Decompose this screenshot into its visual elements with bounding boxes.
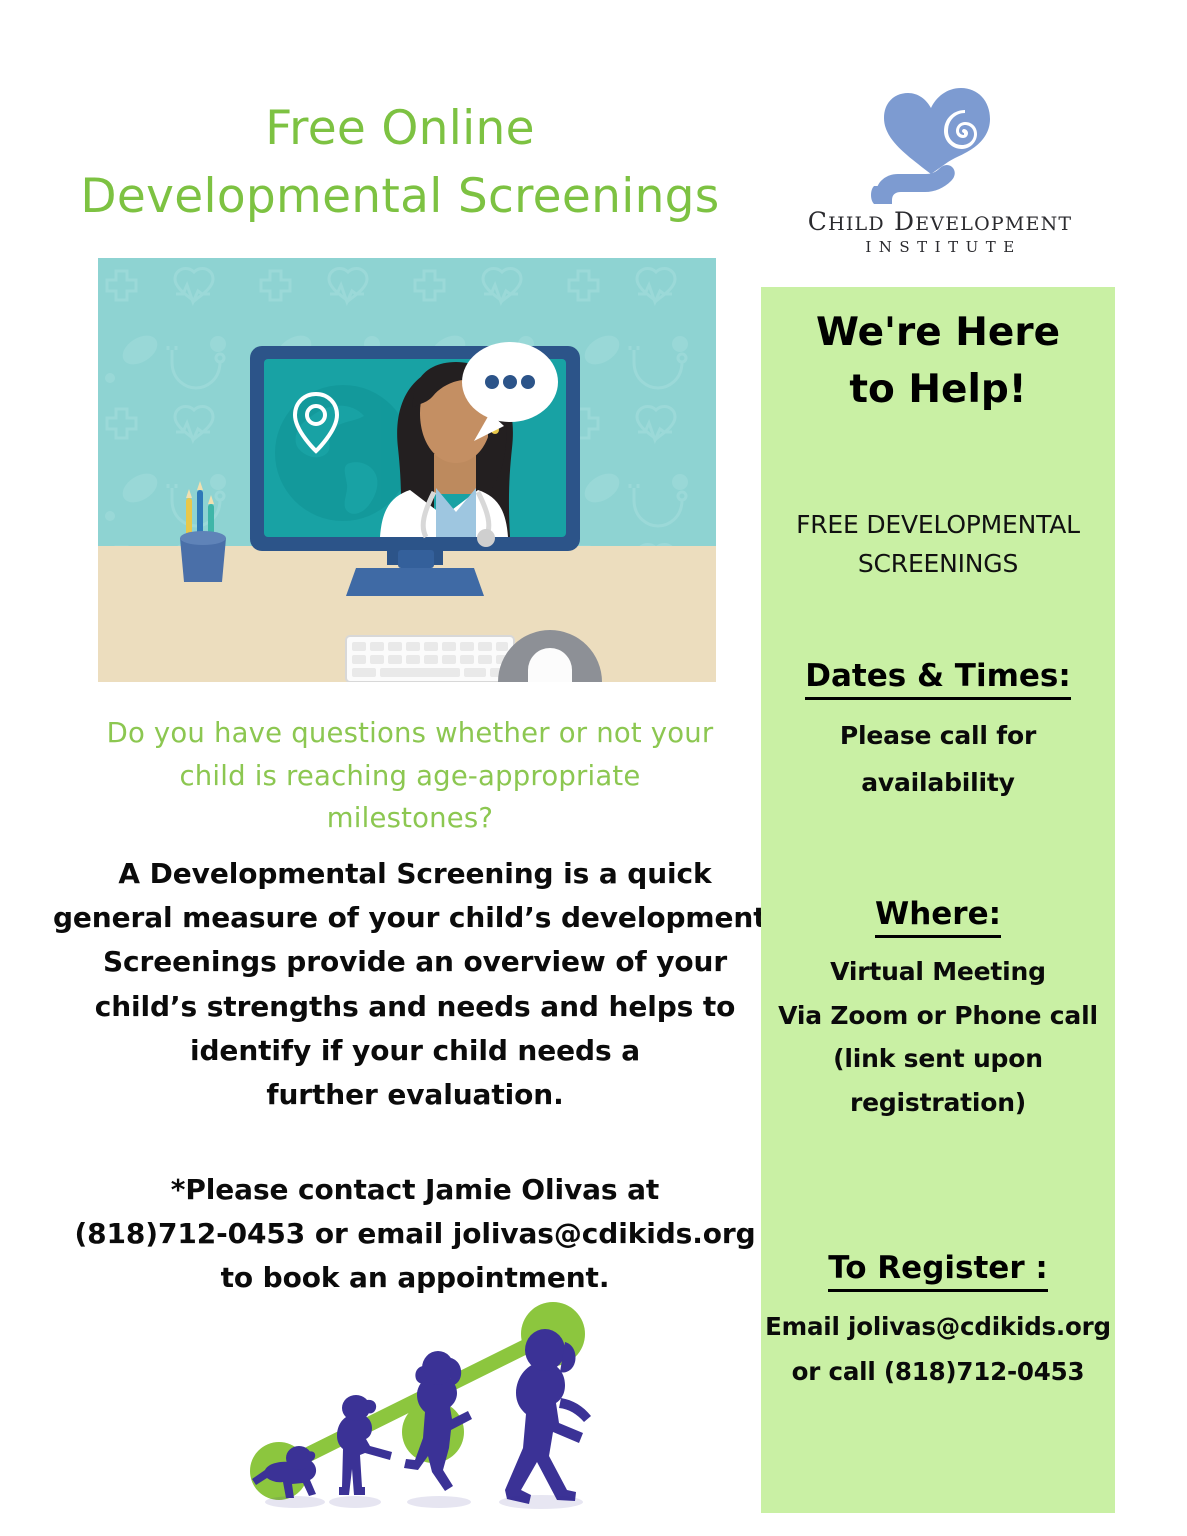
section-to-register-line-1: Email jolivas@cdikids.org bbox=[761, 1304, 1115, 1349]
sidebar-headline: We're Here to Help! bbox=[761, 305, 1115, 418]
contact-line-1: *Please contact Jamie Olivas at bbox=[45, 1168, 785, 1212]
section-to-register-heading-wrap: To Register : bbox=[761, 1249, 1115, 1292]
question-text: Do you have questions whether or not you… bbox=[60, 712, 760, 840]
section-to-register-line-2: or call (818)712-0453 bbox=[761, 1349, 1115, 1394]
section-where: Where: Virtual Meeting Via Zoom or Phone… bbox=[761, 895, 1115, 1125]
section-to-register-body: Email jolivas@cdikids.org or call (818)7… bbox=[761, 1304, 1115, 1395]
page-title-line-1: Free Online bbox=[40, 95, 760, 163]
telehealth-illustration bbox=[98, 258, 716, 682]
sidebar-subheadline-line-1: FREE DEVELOPMENTAL bbox=[769, 506, 1107, 545]
page-title: Free Online Developmental Screenings bbox=[40, 95, 760, 230]
contact-text: *Please contact Jamie Olivas at (818)712… bbox=[45, 1168, 785, 1301]
section-where-line-3: (link sent upon bbox=[761, 1037, 1115, 1081]
description-line-2: general measure of your child’s developm… bbox=[45, 896, 785, 940]
section-dates-times-line-2: availability bbox=[761, 759, 1115, 807]
organization-logo: CHILD DEVELOPMENT INSTITUTE bbox=[760, 82, 1120, 277]
section-where-heading: Where: bbox=[875, 895, 1001, 938]
logo-name-c: C bbox=[808, 207, 828, 236]
sidebar-subheadline: FREE DEVELOPMENTAL SCREENINGS bbox=[769, 506, 1107, 584]
description-line-4: child’s strengths and needs and helps to bbox=[45, 985, 785, 1029]
section-where-line-2: Via Zoom or Phone call bbox=[761, 994, 1115, 1038]
question-line-1: Do you have questions whether or not you… bbox=[60, 712, 760, 755]
question-line-3: milestones? bbox=[60, 797, 760, 840]
sidebar-subheadline-line-2: SCREENINGS bbox=[769, 545, 1107, 584]
logo-name-evelopment: EVELOPMENT bbox=[915, 213, 1072, 235]
section-dates-times-body: Please call for availability bbox=[761, 712, 1115, 807]
sidebar-headline-line-1: We're Here bbox=[761, 305, 1115, 362]
section-to-register-heading: To Register : bbox=[828, 1249, 1048, 1292]
logo-wordmark: CHILD DEVELOPMENT INSTITUTE bbox=[760, 208, 1120, 256]
contact-line-3: to book an appointment. bbox=[45, 1256, 785, 1300]
child-growth-progression-graphic bbox=[243, 1302, 641, 1536]
section-dates-times-heading: Dates & Times: bbox=[805, 657, 1071, 700]
flyer-page: Free Online Developmental Screenings bbox=[0, 0, 1187, 1536]
logo-name-d: D bbox=[894, 207, 915, 236]
description-line-3: Screenings provide an overview of your bbox=[45, 940, 785, 984]
sidebar-headline-line-2: to Help! bbox=[761, 362, 1115, 419]
heart-in-hand-icon bbox=[868, 82, 998, 208]
section-dates-times-heading-wrap: Dates & Times: bbox=[761, 657, 1115, 700]
description-line-6: further evaluation. bbox=[45, 1073, 785, 1117]
section-dates-times: Dates & Times: Please call for availabil… bbox=[761, 657, 1115, 807]
section-where-line-4: registration) bbox=[761, 1081, 1115, 1125]
description-text: A Developmental Screening is a quick gen… bbox=[45, 852, 785, 1117]
question-line-2: child is reaching age-appropriate bbox=[60, 755, 760, 798]
logo-name-hild: HILD bbox=[828, 213, 885, 235]
logo-name-line: CHILD DEVELOPMENT bbox=[760, 208, 1120, 235]
section-where-body: Virtual Meeting Via Zoom or Phone call (… bbox=[761, 950, 1115, 1125]
description-line-5: identify if your child needs a bbox=[45, 1029, 785, 1073]
section-where-heading-wrap: Where: bbox=[761, 895, 1115, 938]
description-line-1: A Developmental Screening is a quick bbox=[45, 852, 785, 896]
contact-line-2: (818)712-0453 or email jolivas@cdikids.o… bbox=[45, 1212, 785, 1256]
info-sidebar: We're Here to Help! FREE DEVELOPMENTAL S… bbox=[761, 287, 1115, 1513]
page-title-line-2: Developmental Screenings bbox=[40, 163, 760, 231]
logo-subtitle: INSTITUTE bbox=[760, 238, 1120, 256]
section-to-register: To Register : Email jolivas@cdikids.org … bbox=[761, 1249, 1115, 1394]
section-dates-times-line-1: Please call for bbox=[761, 712, 1115, 760]
section-where-line-1: Virtual Meeting bbox=[761, 950, 1115, 994]
